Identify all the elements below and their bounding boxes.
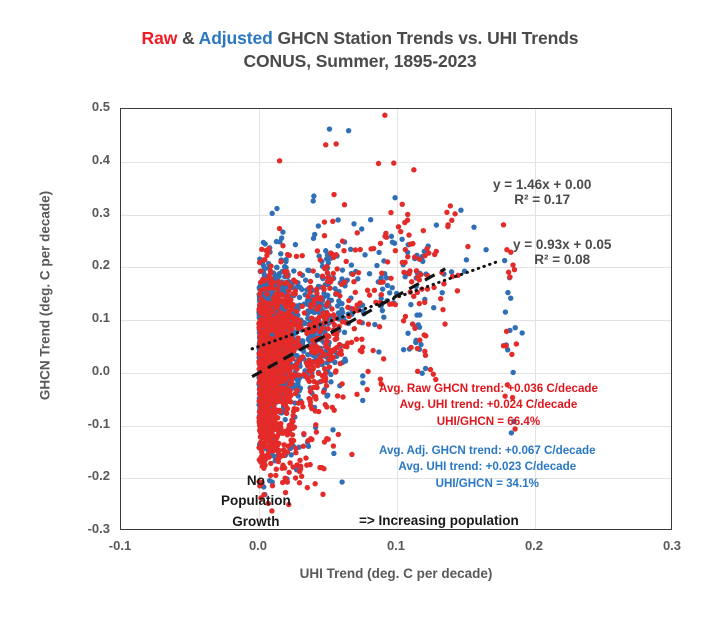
y-tick-label: 0.3 — [62, 205, 110, 220]
adjusted-stats-annotation: Avg. Adj. GHCN trend: +0.067 C/decade Av… — [379, 443, 596, 492]
nopop-line-2: Population — [221, 491, 291, 511]
raw-stat-line-3: UHI/GHCN = 66.4% — [379, 414, 598, 430]
adjusted-equation-label: y = 0.93x + 0.05 R² = 0.08 — [513, 237, 611, 267]
y-tick-label: 0.2 — [62, 257, 110, 272]
x-tick-label: 0.2 — [504, 538, 564, 553]
y-tick-label: 0.5 — [62, 99, 110, 114]
x-tick-label: 0.3 — [642, 538, 702, 553]
no-population-growth-annotation: No Population Growth — [221, 471, 291, 532]
adj-stat-line-3: UHI/GHCN = 34.1% — [379, 476, 596, 492]
chart-figure: Raw & Adjusted GHCN Station Trends vs. U… — [0, 0, 720, 630]
y-tick-label: -0.3 — [62, 521, 110, 536]
y-tick-label: -0.1 — [62, 416, 110, 431]
raw-equation: y = 1.46x + 0.00 — [493, 177, 591, 192]
raw-equation-label: y = 1.46x + 0.00 R² = 0.17 — [493, 177, 591, 207]
raw-stat-line-2: Avg. UHI trend: +0.024 C/decade — [379, 397, 598, 413]
y-tick-label: 0.0 — [62, 363, 110, 378]
increasing-population-annotation: => Increasing population — [359, 513, 519, 528]
adjusted-equation: y = 0.93x + 0.05 — [513, 237, 611, 252]
adjusted-r2: R² = 0.08 — [513, 252, 611, 267]
raw-r2: R² = 0.17 — [493, 192, 591, 207]
raw-stats-annotation: Avg. Raw GHCN trend: +0.036 C/decade Avg… — [379, 381, 598, 430]
x-tick-label: -0.1 — [90, 538, 150, 553]
adj-stat-line-2: Avg. UHI trend: +0.023 C/decade — [379, 459, 596, 475]
y-tick-label: 0.1 — [62, 310, 110, 325]
y-tick-label: -0.2 — [62, 468, 110, 483]
x-tick-label: 0.1 — [366, 538, 426, 553]
adj-stat-line-1: Avg. Adj. GHCN trend: +0.067 C/decade — [379, 443, 596, 459]
plot-area: y = 1.46x + 0.00 R² = 0.17 y = 0.93x + 0… — [120, 108, 672, 530]
nopop-line-1: No — [221, 471, 291, 491]
x-tick-label: 0.0 — [228, 538, 288, 553]
y-tick-label: 0.4 — [62, 152, 110, 167]
raw-stat-line-1: Avg. Raw GHCN trend: +0.036 C/decade — [379, 381, 598, 397]
nopop-line-3: Growth — [221, 512, 291, 532]
adjusted-trendline — [252, 261, 500, 349]
raw-trendline — [252, 269, 445, 377]
